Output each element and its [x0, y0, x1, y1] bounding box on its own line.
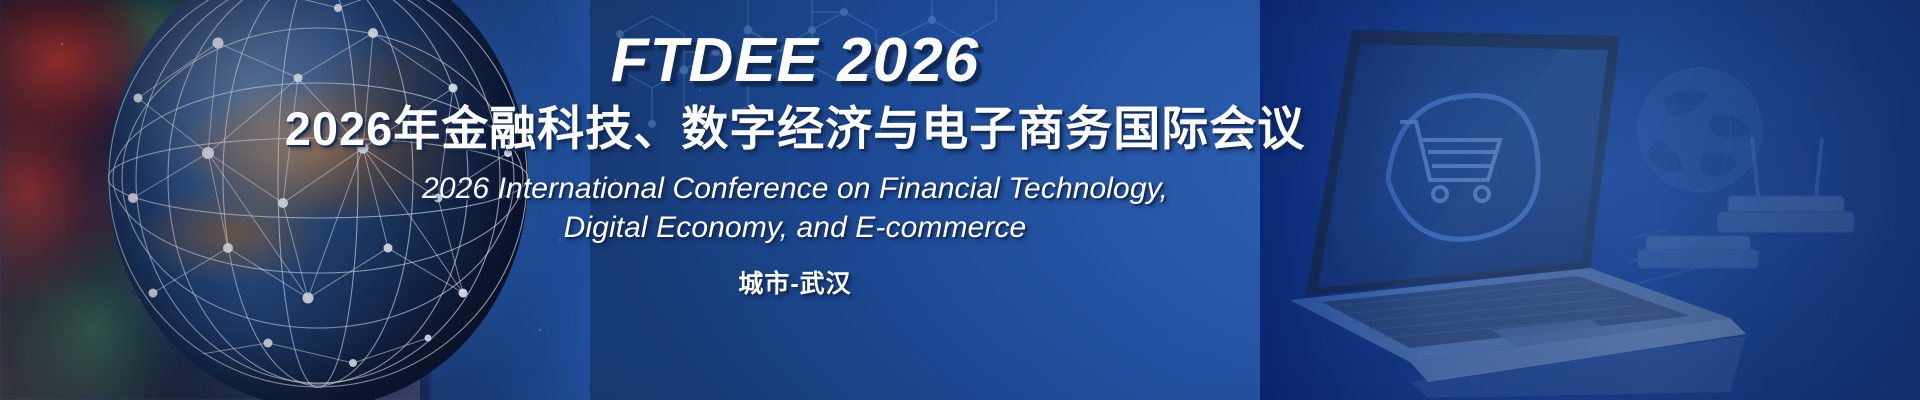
conference-banner: FTDEE 2026 2026年金融科技、数字经济与电子商务国际会议 2026 …: [0, 0, 1920, 400]
english-title-line-2: Digital Economy, and E-commerce: [422, 208, 1168, 248]
conference-acronym: FTDEE 2026: [611, 28, 979, 93]
city-label: 城市-武汉: [738, 264, 851, 300]
chinese-title: 2026年金融科技、数字经济与电子商务国际会议: [285, 101, 1306, 156]
english-title-line-1: 2026 International Conference on Financi…: [422, 169, 1168, 209]
banner-text-block: FTDEE 2026 2026年金融科技、数字经济与电子商务国际会议 2026 …: [250, 0, 1340, 400]
english-title: 2026 International Conference on Financi…: [422, 169, 1168, 249]
